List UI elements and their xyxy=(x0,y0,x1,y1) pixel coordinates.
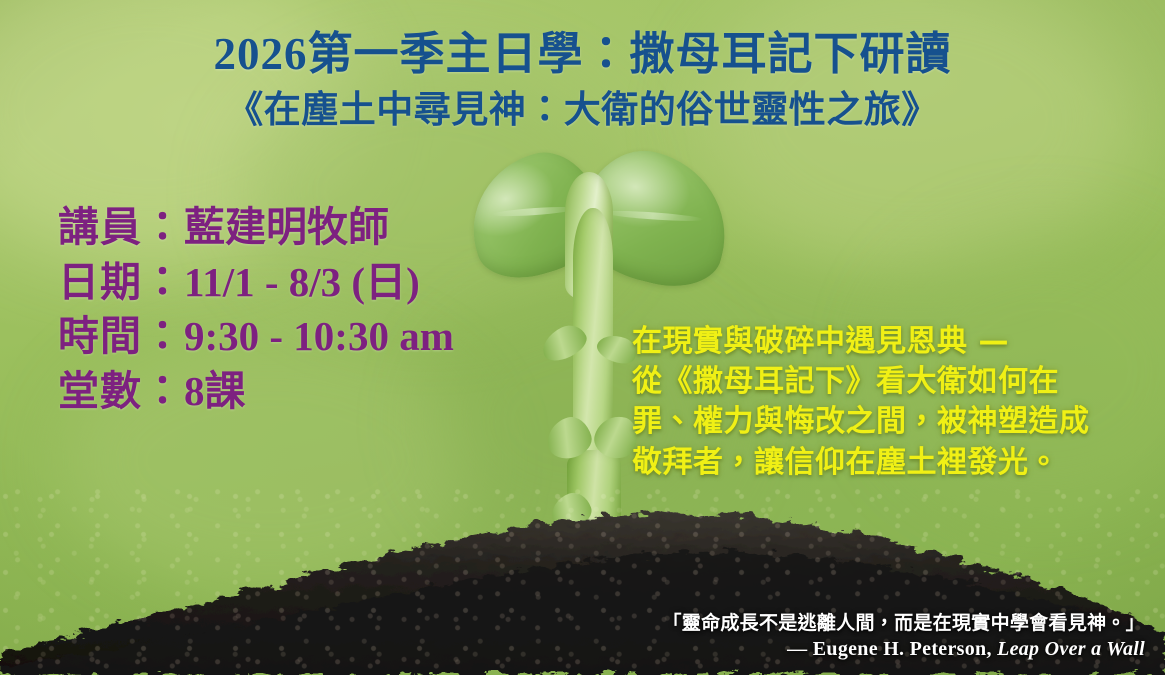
info-value-time: 9:30 - 10:30 am xyxy=(184,313,454,359)
quote-attribution: — Eugene H. Peterson, Leap Over a Wall xyxy=(345,638,1145,661)
info-value-date: 11/1 - 8/3 (日) xyxy=(184,259,420,305)
info-value-speaker: 藍建明牧師 xyxy=(184,204,389,250)
info-label-sessions: 堂數： xyxy=(58,368,184,414)
course-info-list: 講員：藍建明牧師 日期：11/1 - 8/3 (日) 時間：9:30 - 10:… xyxy=(58,200,528,418)
description-line: 罪、權力與悔改之間，被神塑造成 xyxy=(632,402,1152,442)
quote-dash: — xyxy=(787,638,813,660)
page-title: 2026第一季主日學：撒母耳記下研讀 xyxy=(0,28,1165,80)
info-row-date: 日期：11/1 - 8/3 (日) xyxy=(58,255,528,310)
quote-block: 「靈命成長不是逃離人間，而是在現實中學會看見神。」 — Eugene H. Pe… xyxy=(345,611,1145,661)
poster-canvas: 2026第一季主日學：撒母耳記下研讀 《在塵土中尋見神：大衛的俗世靈性之旅》 講… xyxy=(0,0,1165,675)
quote-work-title: Leap Over a Wall xyxy=(992,638,1145,660)
quote-text: 「靈命成長不是逃離人間，而是在現實中學會看見神。」 xyxy=(345,611,1145,636)
info-value-sessions: 8課 xyxy=(184,368,246,414)
title-block: 2026第一季主日學：撒母耳記下研讀 《在塵土中尋見神：大衛的俗世靈性之旅》 xyxy=(0,28,1165,134)
quote-author: Eugene H. Peterson, xyxy=(813,638,992,660)
info-label-time: 時間： xyxy=(58,313,184,359)
info-row-speaker: 講員：藍建明牧師 xyxy=(58,200,528,255)
description-line: 敬拜者，讓信仰在塵土裡發光。 xyxy=(632,443,1152,483)
info-row-time: 時間：9:30 - 10:30 am xyxy=(58,309,528,364)
description-line: 從《撒母耳記下》看大衛如何在 xyxy=(632,362,1152,402)
description-line: 在現實與破碎中遇見恩典 — xyxy=(632,322,1152,362)
page-subtitle: 《在塵土中尋見神：大衛的俗世靈性之旅》 xyxy=(0,89,1165,133)
info-label-date: 日期： xyxy=(58,259,184,305)
description-block: 在現實與破碎中遇見恩典 — 從《撒母耳記下》看大衛如何在 罪、權力與悔改之間，被… xyxy=(632,322,1152,483)
info-row-sessions: 堂數：8課 xyxy=(58,364,528,419)
info-label-speaker: 講員： xyxy=(58,204,184,250)
